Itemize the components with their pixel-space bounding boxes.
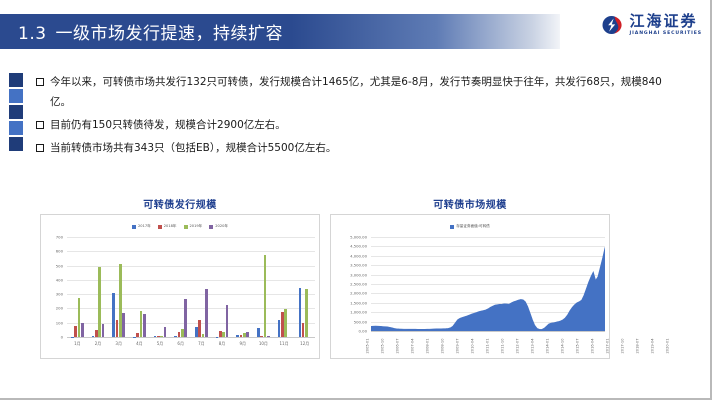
bar (260, 336, 263, 337)
y-tick-label: 200 (56, 306, 63, 311)
area-chart-plot: 0.00500.001,000.001,500.002,000.002,500.… (331, 233, 611, 360)
gridline (371, 331, 605, 332)
x-tick-label: 9月 (232, 341, 253, 347)
decoration-square (9, 73, 23, 87)
bar (299, 288, 302, 337)
bullet-paragraph: 当前转债市场共有343只（包括EB），规模合计5500亿左右。 (36, 138, 676, 158)
bar (95, 330, 98, 337)
bar (195, 327, 198, 337)
area-chart-legend: 存量证券面值:可转债 (331, 215, 609, 232)
bar (281, 312, 284, 337)
legend-key-icon (184, 225, 188, 229)
legend-label: 2018年 (164, 224, 177, 229)
chart-title-right: 可转债市场规模 (330, 196, 610, 211)
bar-group (212, 237, 233, 337)
bullet-paragraph: 今年以来，可转债市场共发行132只可转债，发行规模合计1465亿，尤其是6-8月… (36, 72, 676, 112)
bar (267, 336, 270, 337)
x-tick-label: 5月 (150, 341, 171, 347)
slide-header-bar: 1.3一级市场发行提速，持续扩容 (0, 14, 560, 49)
x-tick-label: 1月 (67, 341, 88, 347)
legend-key-icon (209, 225, 213, 229)
bar (198, 320, 201, 337)
bar-group (170, 237, 191, 337)
decoration-square (9, 137, 23, 151)
legend-item: 2018年 (158, 224, 177, 229)
x-tick-label: 10月 (253, 341, 274, 347)
bar (174, 336, 177, 337)
y-tick-label: 1,000.00 (350, 310, 367, 315)
bar (157, 336, 160, 337)
logo-text: 江海证券 JIANGHAI SECURITIES (630, 14, 702, 37)
x-tick-label: 3月 (108, 341, 129, 347)
bar-chart-legend: 2017年2018年2019年2020年 (41, 215, 319, 232)
y-tick-label: 4,000.00 (350, 253, 367, 258)
bar (278, 320, 281, 337)
y-tick-label: 400 (56, 277, 63, 282)
bar-group (294, 237, 315, 337)
legend-key-icon (158, 225, 162, 229)
legend-label: 2019年 (190, 224, 203, 229)
y-tick-label: 700 (56, 235, 63, 240)
legend-item: 2017年 (132, 224, 151, 229)
y-tick-label: 500.00 (354, 319, 367, 324)
section-title: 一级市场发行提速，持续扩容 (56, 24, 284, 44)
logo-name-cn: 江海证券 (630, 14, 702, 29)
x-tick-label: 11月 (274, 341, 295, 347)
paragraph-text: 目前仍有150只转债待发，规模合计2900亿左右。 (50, 115, 676, 135)
bar (181, 329, 184, 337)
bar (236, 335, 239, 337)
bar (264, 255, 267, 337)
body-text: 今年以来，可转债市场共发行132只可转债，发行规模合计1465亿，尤其是6-8月… (36, 72, 676, 161)
x-tick-label: 6月 (170, 341, 191, 347)
bar (240, 335, 243, 337)
y-tick-label: 600 (56, 249, 63, 254)
hollow-square-bullet-icon (36, 121, 44, 129)
x-tick-label: 8月 (212, 341, 233, 347)
legend-label: 存量证券面值:可转债 (456, 224, 490, 229)
y-tick-label: 3,500.00 (350, 263, 367, 268)
x-tick-label: 2月 (88, 341, 109, 347)
y-tick-label: 5,000.00 (350, 235, 367, 240)
page-title: 1.3一级市场发行提速，持续扩容 (0, 19, 283, 44)
bar (98, 267, 101, 337)
bar (178, 332, 181, 337)
bar (305, 289, 308, 337)
legend-item: 存量证券面值:可转债 (450, 224, 490, 229)
y-tick-label: 0.00 (359, 329, 367, 334)
bar-group (274, 237, 295, 337)
bar (302, 323, 305, 337)
bar (81, 323, 84, 337)
market-scale-chart-panel: 可转债市场规模 存量证券面值:可转债 0.00500.001,000.001,5… (330, 196, 610, 359)
bar-chart-plot: 0100200300400500600700 1月2月3月4月5月6月7月8月9… (41, 233, 321, 360)
bar-chart-bars (67, 237, 315, 337)
bar (122, 313, 125, 337)
decoration-square (9, 121, 23, 135)
bar (284, 309, 287, 337)
legend-item: 2020年 (209, 224, 228, 229)
hollow-square-bullet-icon (36, 144, 44, 152)
company-logo: 江海证券 JIANGHAI SECURITIES (601, 13, 702, 37)
bar (78, 298, 81, 337)
bar (219, 331, 222, 337)
bar-group (191, 237, 212, 337)
legend-item: 2019年 (184, 224, 203, 229)
area-chart: 存量证券面值:可转债 0.00500.001,000.001,500.002,0… (330, 214, 610, 359)
x-tick-label: 4月 (129, 341, 150, 347)
y-tick-label: 100 (56, 320, 63, 325)
bar (92, 336, 95, 337)
paragraph-text: 今年以来，可转债市场共发行132只可转债，发行规模合计1465亿，尤其是6-8月… (50, 72, 676, 112)
bar (243, 333, 246, 337)
x-tick-label: 12月 (294, 341, 315, 347)
hollow-square-bullet-icon (36, 78, 44, 86)
bar (226, 305, 229, 337)
area-chart-x-axis: 2005-012005-102006-072007-042008-012008-… (371, 333, 605, 359)
bar-group (232, 237, 253, 337)
bar (202, 334, 205, 337)
y-tick-label: 4,500.00 (350, 244, 367, 249)
bar-chart-y-axis: 0100200300400500600700 (41, 233, 65, 360)
bar-chart-x-axis: 1月2月3月4月5月6月7月8月9月10月11月12月 (67, 341, 315, 347)
y-tick-label: 500 (56, 263, 63, 268)
bar-group (253, 237, 274, 337)
bar-chart: 2017年2018年2019年2020年 0100200300400500600… (40, 214, 320, 359)
bar (119, 264, 122, 337)
issuance-scale-chart-panel: 可转债发行规模 2017年2018年2019年2020年 01002003004… (40, 196, 320, 359)
bar (140, 311, 143, 337)
bar (112, 293, 115, 337)
decoration-square (9, 105, 23, 119)
gridline (67, 337, 315, 338)
area-chart-y-axis: 0.00500.001,000.001,500.002,000.002,500.… (331, 233, 369, 360)
chart-title-left: 可转债发行规模 (40, 196, 320, 211)
y-tick-label: 1,500.00 (350, 300, 367, 305)
bar (205, 289, 208, 337)
section-number: 1.3 (18, 24, 47, 44)
bar (257, 328, 260, 337)
paragraph-text: 当前转债市场共有343只（包括EB），规模合计5500亿左右。 (50, 138, 676, 158)
y-tick-label: 2,500.00 (350, 282, 367, 287)
y-tick-label: 0 (61, 335, 63, 340)
legend-key-icon (450, 225, 454, 229)
decoration-square (9, 89, 23, 103)
bar (222, 332, 225, 337)
bar (116, 320, 119, 337)
bar (143, 314, 146, 337)
bar-group (67, 237, 88, 337)
y-tick-label: 3,000.00 (350, 272, 367, 277)
bar (184, 299, 187, 337)
bar (164, 327, 167, 337)
area-chart-series (371, 237, 605, 331)
bar (74, 326, 77, 337)
y-tick-label: 300 (56, 292, 63, 297)
y-tick-label: 2,000.00 (350, 291, 367, 296)
bar-group (129, 237, 150, 337)
legend-label: 2017年 (138, 224, 151, 229)
bar (154, 336, 157, 337)
legend-label: 2020年 (215, 224, 228, 229)
bar (136, 333, 139, 337)
x-tick-label: 7月 (191, 341, 212, 347)
x-tick-label: 2020-01 (671, 333, 686, 359)
logo-name-en: JIANGHAI SECURITIES (630, 32, 702, 37)
bar-group (150, 237, 171, 337)
bullet-paragraph: 目前仍有150只转债待发，规模合计2900亿左右。 (36, 115, 676, 135)
bar-group (88, 237, 109, 337)
bar-group (108, 237, 129, 337)
bar (246, 332, 249, 337)
slide: 1.3一级市场发行提速，持续扩容 江海证券 JIANGHAI SECURITIE… (0, 0, 712, 400)
bar (102, 324, 105, 337)
legend-key-icon (132, 225, 136, 229)
bullet-decoration-column (9, 73, 23, 151)
logo-swoosh-icon (601, 13, 625, 37)
bar (160, 336, 163, 337)
